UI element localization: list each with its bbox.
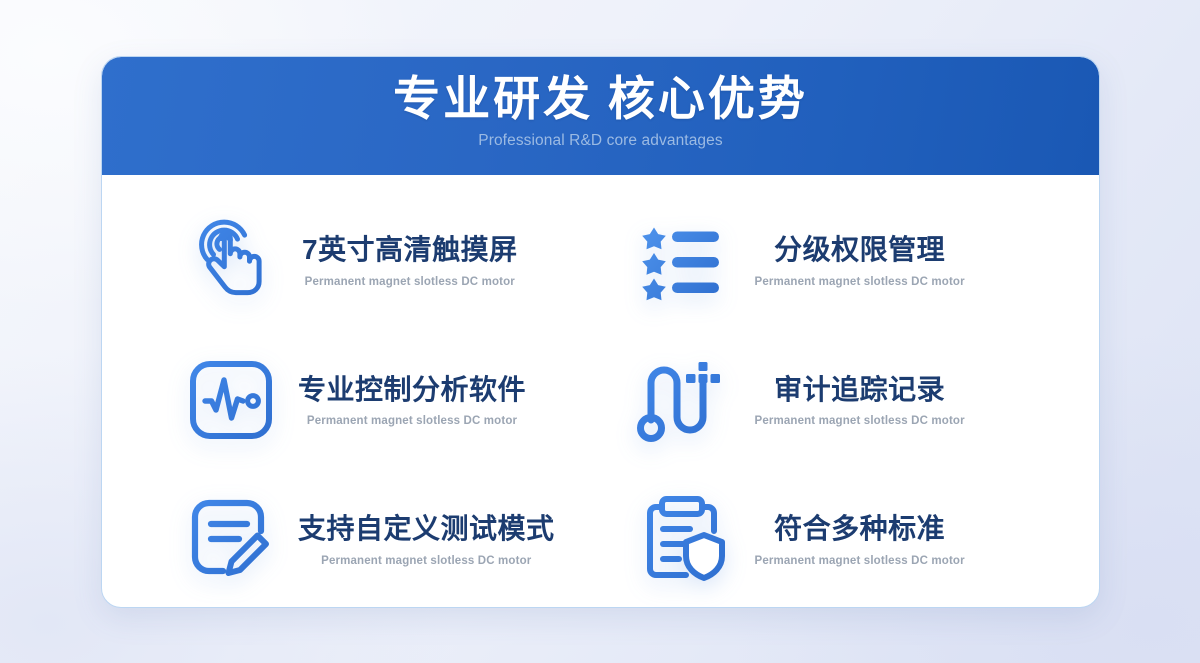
feature-subtitle: Permanent magnet slotless DC motor — [755, 415, 965, 427]
audit-trace-icon — [631, 349, 733, 451]
feature-card: 专业研发 核心优势 Professional R&D core advantag… — [101, 56, 1100, 608]
page-subtitle: Professional R&D core advantages — [478, 132, 722, 150]
feature-title: 符合多种标准 — [774, 512, 945, 546]
feature-title: 专业控制分析软件 — [298, 373, 526, 407]
feature-subtitle: Permanent magnet slotless DC motor — [305, 276, 515, 288]
feature-subtitle: Permanent magnet slotless DC motor — [755, 276, 965, 288]
page-root: 专业研发 核心优势 Professional R&D core advantag… — [0, 0, 1200, 663]
feature-title: 审计追踪记录 — [774, 373, 945, 407]
feature-item-analysis-software: 专业控制分析软件 Permanent magnet slotless DC mo… — [102, 330, 601, 469]
touch-screen-icon — [180, 210, 282, 312]
feature-item-audit-trace: 审计追踪记录 Permanent magnet slotless DC moto… — [601, 330, 1100, 469]
feature-subtitle: Permanent magnet slotless DC motor — [755, 555, 965, 567]
feature-text-block: 审计追踪记录 Permanent magnet slotless DC moto… — [755, 373, 965, 428]
document-edit-icon — [180, 488, 282, 590]
waveform-analysis-icon — [180, 349, 282, 451]
feature-item-permissions: 分级权限管理 Permanent magnet slotless DC moto… — [601, 191, 1100, 330]
feature-text-block: 符合多种标准 Permanent magnet slotless DC moto… — [755, 512, 965, 567]
clipboard-shield-icon — [631, 488, 733, 590]
feature-subtitle: Permanent magnet slotless DC motor — [321, 555, 531, 567]
page-title: 专业研发 核心优势 — [393, 74, 808, 127]
feature-text-block: 专业控制分析软件 Permanent magnet slotless DC mo… — [298, 373, 526, 428]
feature-item-standards: 符合多种标准 Permanent magnet slotless DC moto… — [601, 470, 1100, 608]
feature-title: 7英寸高清触摸屏 — [302, 233, 518, 267]
feature-text-block: 支持自定义测试模式 Permanent magnet slotless DC m… — [298, 512, 555, 567]
feature-text-block: 7英寸高清触摸屏 Permanent magnet slotless DC mo… — [302, 233, 518, 288]
feature-item-custom-test-mode: 支持自定义测试模式 Permanent magnet slotless DC m… — [102, 470, 601, 608]
feature-item-touch-screen: 7英寸高清触摸屏 Permanent magnet slotless DC mo… — [102, 191, 601, 330]
feature-text-block: 分级权限管理 Permanent magnet slotless DC moto… — [755, 233, 965, 288]
feature-title: 支持自定义测试模式 — [298, 512, 555, 546]
feature-title: 分级权限管理 — [774, 233, 945, 267]
card-header: 专业研发 核心优势 Professional R&D core advantag… — [102, 57, 1099, 175]
feature-subtitle: Permanent magnet slotless DC motor — [307, 415, 517, 427]
feature-grid: 7英寸高清触摸屏 Permanent magnet slotless DC mo… — [102, 175, 1099, 608]
star-list-icon — [631, 210, 733, 312]
